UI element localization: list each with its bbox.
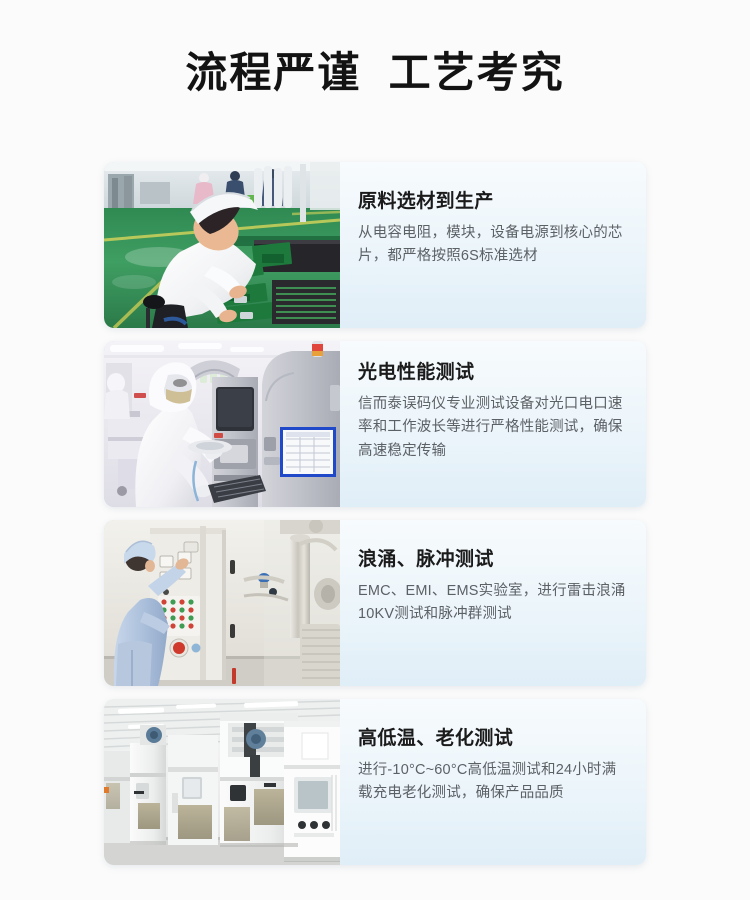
- page-title: 流程严谨 工艺考究: [0, 47, 750, 100]
- feature-card-4-body: 高低温、老化测试 进行-10°C~60°C高低温测试和24小时满载充电老化测试，…: [340, 699, 646, 865]
- feature-card-3-description: EMC、EMI、EMS实验室，进行雷击浪涌10KV测试和脉冲群测试: [358, 580, 628, 627]
- feature-card-2[interactable]: 光电性能测试 信而泰误码仪专业测试设备对光口电口速率和工作波长等进行严格性能测试…: [104, 341, 646, 507]
- feature-card-4-heading: 高低温、老化测试: [358, 729, 628, 750]
- pcb-assembly-line-photo: [104, 162, 340, 328]
- cleanroom-optical-test-photo: [104, 341, 340, 507]
- surge-control-panel-photo: [104, 520, 340, 686]
- feature-card-1-body: 原料选材到生产 从电容电阻，模块，设备电源到核心的芯片，都严格按照6S标准选材: [340, 162, 646, 328]
- feature-card-4-description: 进行-10°C~60°C高低温测试和24小时满载充电老化测试，确保产品品质: [358, 759, 628, 806]
- feature-card-1-heading: 原料选材到生产: [358, 192, 628, 213]
- feature-card-3-body: 浪涌、脉冲测试 EMC、EMI、EMS实验室，进行雷击浪涌10KV测试和脉冲群测…: [340, 520, 646, 686]
- climate-chamber-room-photo: [104, 699, 340, 865]
- feature-card-3-heading: 浪涌、脉冲测试: [358, 550, 628, 571]
- feature-card-2-heading: 光电性能测试: [358, 363, 628, 384]
- feature-card-4[interactable]: 高低温、老化测试 进行-10°C~60°C高低温测试和24小时满载充电老化测试，…: [104, 699, 646, 865]
- feature-card-list: 原料选材到生产 从电容电阻，模块，设备电源到核心的芯片，都严格按照6S标准选材: [104, 162, 646, 865]
- feature-card-2-body: 光电性能测试 信而泰误码仪专业测试设备对光口电口速率和工作波长等进行严格性能测试…: [340, 341, 646, 507]
- feature-card-1[interactable]: 原料选材到生产 从电容电阻，模块，设备电源到核心的芯片，都严格按照6S标准选材: [104, 162, 646, 328]
- feature-card-1-description: 从电容电阻，模块，设备电源到核心的芯片，都严格按照6S标准选材: [358, 222, 628, 269]
- feature-card-3[interactable]: 浪涌、脉冲测试 EMC、EMI、EMS实验室，进行雷击浪涌10KV测试和脉冲群测…: [104, 520, 646, 686]
- feature-card-2-description: 信而泰误码仪专业测试设备对光口电口速率和工作波长等进行严格性能测试，确保高速稳定…: [358, 393, 628, 463]
